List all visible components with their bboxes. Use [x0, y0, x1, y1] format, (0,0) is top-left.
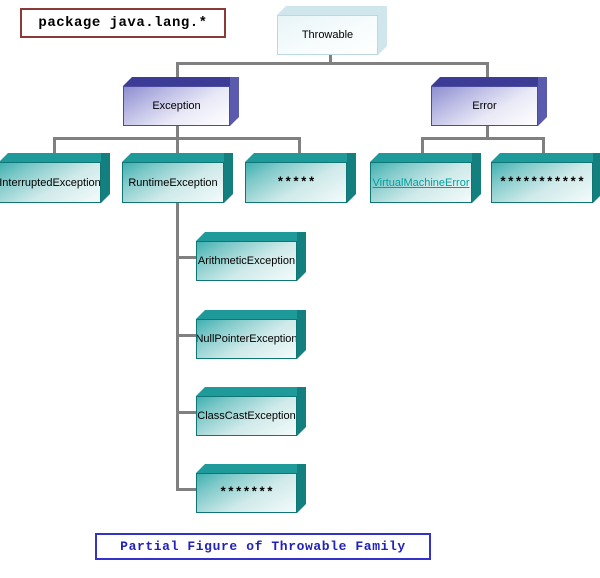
connector-error-bus [421, 137, 545, 140]
node-class-cast-exception-front-face: ClassCastException [196, 396, 297, 436]
node-throwable[interactable]: Throwable [277, 6, 387, 55]
node-arithmetic-exception[interactable]: ArithmeticException [196, 232, 306, 281]
node-throwable-top-face [277, 6, 387, 15]
node-null-pointer-exception[interactable]: NullPointerException [196, 310, 306, 359]
node-error-more-front-face: *********** [491, 162, 593, 203]
node-error-more[interactable]: *********** [491, 153, 600, 203]
connector-throwable-bus [176, 62, 489, 65]
node-null-pointer-exception-side-face [297, 310, 306, 359]
node-error-label: Error [472, 100, 496, 112]
node-error[interactable]: Error [431, 77, 547, 126]
node-virtual-machine-error-side-face [472, 153, 481, 203]
node-runtime-more-side-face [297, 464, 306, 513]
node-throwable-side-face [378, 6, 387, 55]
node-error-more-side-face [593, 153, 600, 203]
caption-text: Partial Figure of Throwable Family [120, 539, 406, 554]
node-virtual-machine-error[interactable]: VirtualMachineError [370, 153, 481, 203]
connector-runtime-spine [176, 202, 179, 490]
node-exception-more[interactable]: ***** [245, 153, 356, 203]
node-error-front-face: Error [431, 86, 538, 126]
node-runtime-more-top-face [196, 464, 306, 473]
node-error-more-top-face [491, 153, 600, 162]
package-banner-text: package java.lang.* [38, 15, 207, 31]
node-exception-side-face [230, 77, 239, 126]
node-runtime-exception-top-face [122, 153, 233, 162]
node-exception-more-top-face [245, 153, 356, 162]
node-throwable-front-face: Throwable [277, 15, 378, 55]
node-interrupted-exception-side-face [101, 153, 110, 203]
node-arithmetic-exception-label: ArithmeticException [198, 255, 295, 267]
node-exception-more-label: ***** [276, 177, 315, 189]
node-runtime-exception-label: RuntimeException [128, 177, 217, 189]
node-interrupted-exception-label: InterruptedException [0, 177, 101, 189]
node-error-more-label: *********** [499, 177, 585, 189]
node-arithmetic-exception-top-face [196, 232, 306, 241]
node-arithmetic-exception-side-face [297, 232, 306, 281]
diagram-canvas: package java.lang.* Throwable Exception … [0, 0, 600, 578]
node-null-pointer-exception-top-face [196, 310, 306, 319]
node-arithmetic-exception-front-face: ArithmeticException [196, 241, 297, 281]
caption-box: Partial Figure of Throwable Family [95, 533, 431, 560]
node-exception-more-front-face: ***** [245, 162, 347, 203]
node-virtual-machine-error-link[interactable]: VirtualMachineError [372, 177, 469, 189]
node-class-cast-exception-label: ClassCastException [197, 410, 295, 422]
node-virtual-machine-error-top-face [370, 153, 481, 162]
node-exception[interactable]: Exception [123, 77, 239, 126]
node-interrupted-exception[interactable]: InterruptedException [0, 153, 110, 203]
node-interrupted-exception-top-face [0, 153, 110, 162]
node-exception-top-face [123, 77, 239, 86]
node-class-cast-exception[interactable]: ClassCastException [196, 387, 306, 436]
connector-runtime-to-nullpointer [176, 334, 198, 337]
connector-runtime-to-more [176, 488, 198, 491]
node-null-pointer-exception-front-face: NullPointerException [196, 319, 297, 359]
node-exception-more-side-face [347, 153, 356, 203]
node-null-pointer-exception-label: NullPointerException [196, 333, 297, 345]
node-error-top-face [431, 77, 547, 86]
node-runtime-exception[interactable]: RuntimeException [122, 153, 233, 203]
node-runtime-more-label: ******* [219, 487, 274, 499]
node-exception-front-face: Exception [123, 86, 230, 126]
node-throwable-label: Throwable [302, 29, 353, 41]
node-runtime-more-front-face: ******* [196, 473, 297, 513]
connector-runtime-to-classcast [176, 411, 198, 414]
node-virtual-machine-error-front-face: VirtualMachineError [370, 162, 472, 203]
node-runtime-exception-front-face: RuntimeException [122, 162, 224, 203]
node-class-cast-exception-top-face [196, 387, 306, 396]
package-banner: package java.lang.* [20, 8, 226, 38]
node-exception-label: Exception [152, 100, 200, 112]
node-runtime-more[interactable]: ******* [196, 464, 306, 513]
node-class-cast-exception-side-face [297, 387, 306, 436]
connector-runtime-to-arithmetic [176, 256, 198, 259]
node-error-side-face [538, 77, 547, 126]
node-runtime-exception-side-face [224, 153, 233, 203]
node-interrupted-exception-front-face: InterruptedException [0, 162, 101, 203]
